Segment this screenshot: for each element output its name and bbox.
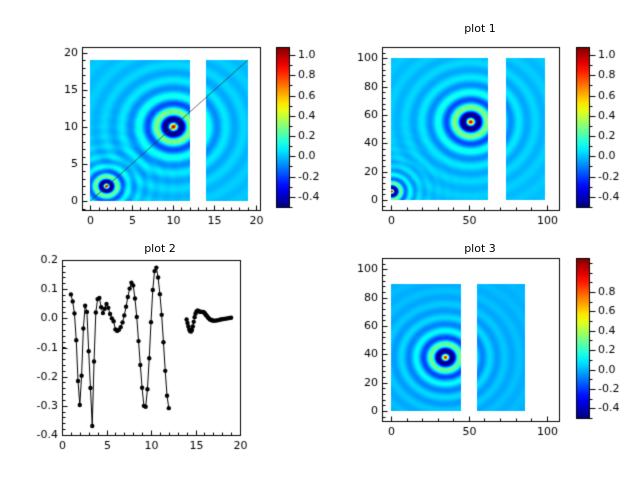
subplot-top-left[interactable] — [0, 0, 320, 240]
subplot-top-right[interactable]: plot 1 — [320, 0, 640, 240]
plot2-title: plot 2 — [0, 242, 320, 255]
figure-canvas: plot 1 plot 2 plot 3 — [0, 0, 640, 480]
plot3-canvas[interactable] — [320, 240, 640, 480]
plot0-canvas[interactable] — [0, 0, 320, 240]
plot3-title: plot 3 — [320, 242, 640, 255]
plot1-canvas[interactable] — [320, 0, 640, 240]
subplot-bottom-left[interactable]: plot 2 — [0, 240, 320, 480]
plot1-title: plot 1 — [320, 22, 640, 35]
plot2-canvas[interactable] — [0, 240, 320, 480]
subplot-bottom-right[interactable]: plot 3 — [320, 240, 640, 480]
